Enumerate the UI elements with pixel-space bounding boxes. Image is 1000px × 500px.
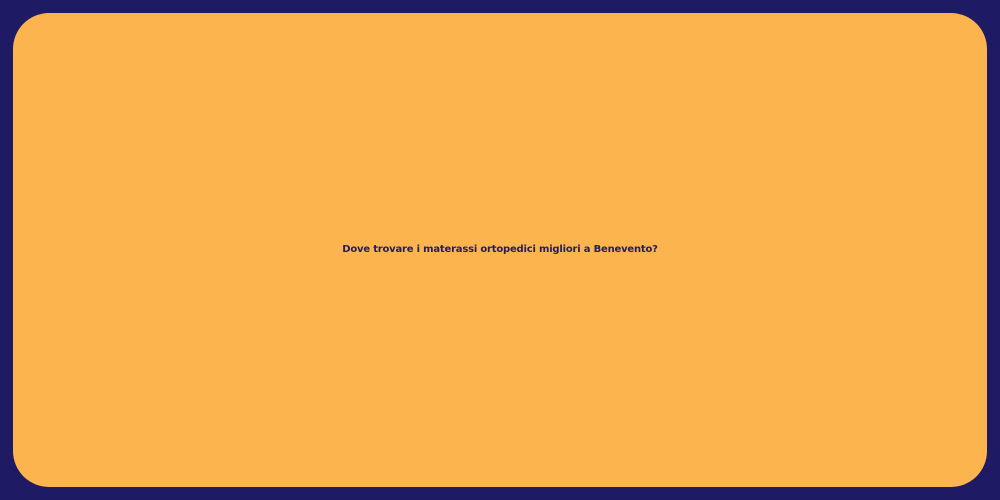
headline-text: Dove trovare i materassi ortopedici migl…: [13, 244, 987, 257]
content-panel: Dove trovare i materassi ortopedici migl…: [13, 13, 987, 487]
banner-root: Dove trovare i materassi ortopedici migl…: [0, 0, 1000, 500]
